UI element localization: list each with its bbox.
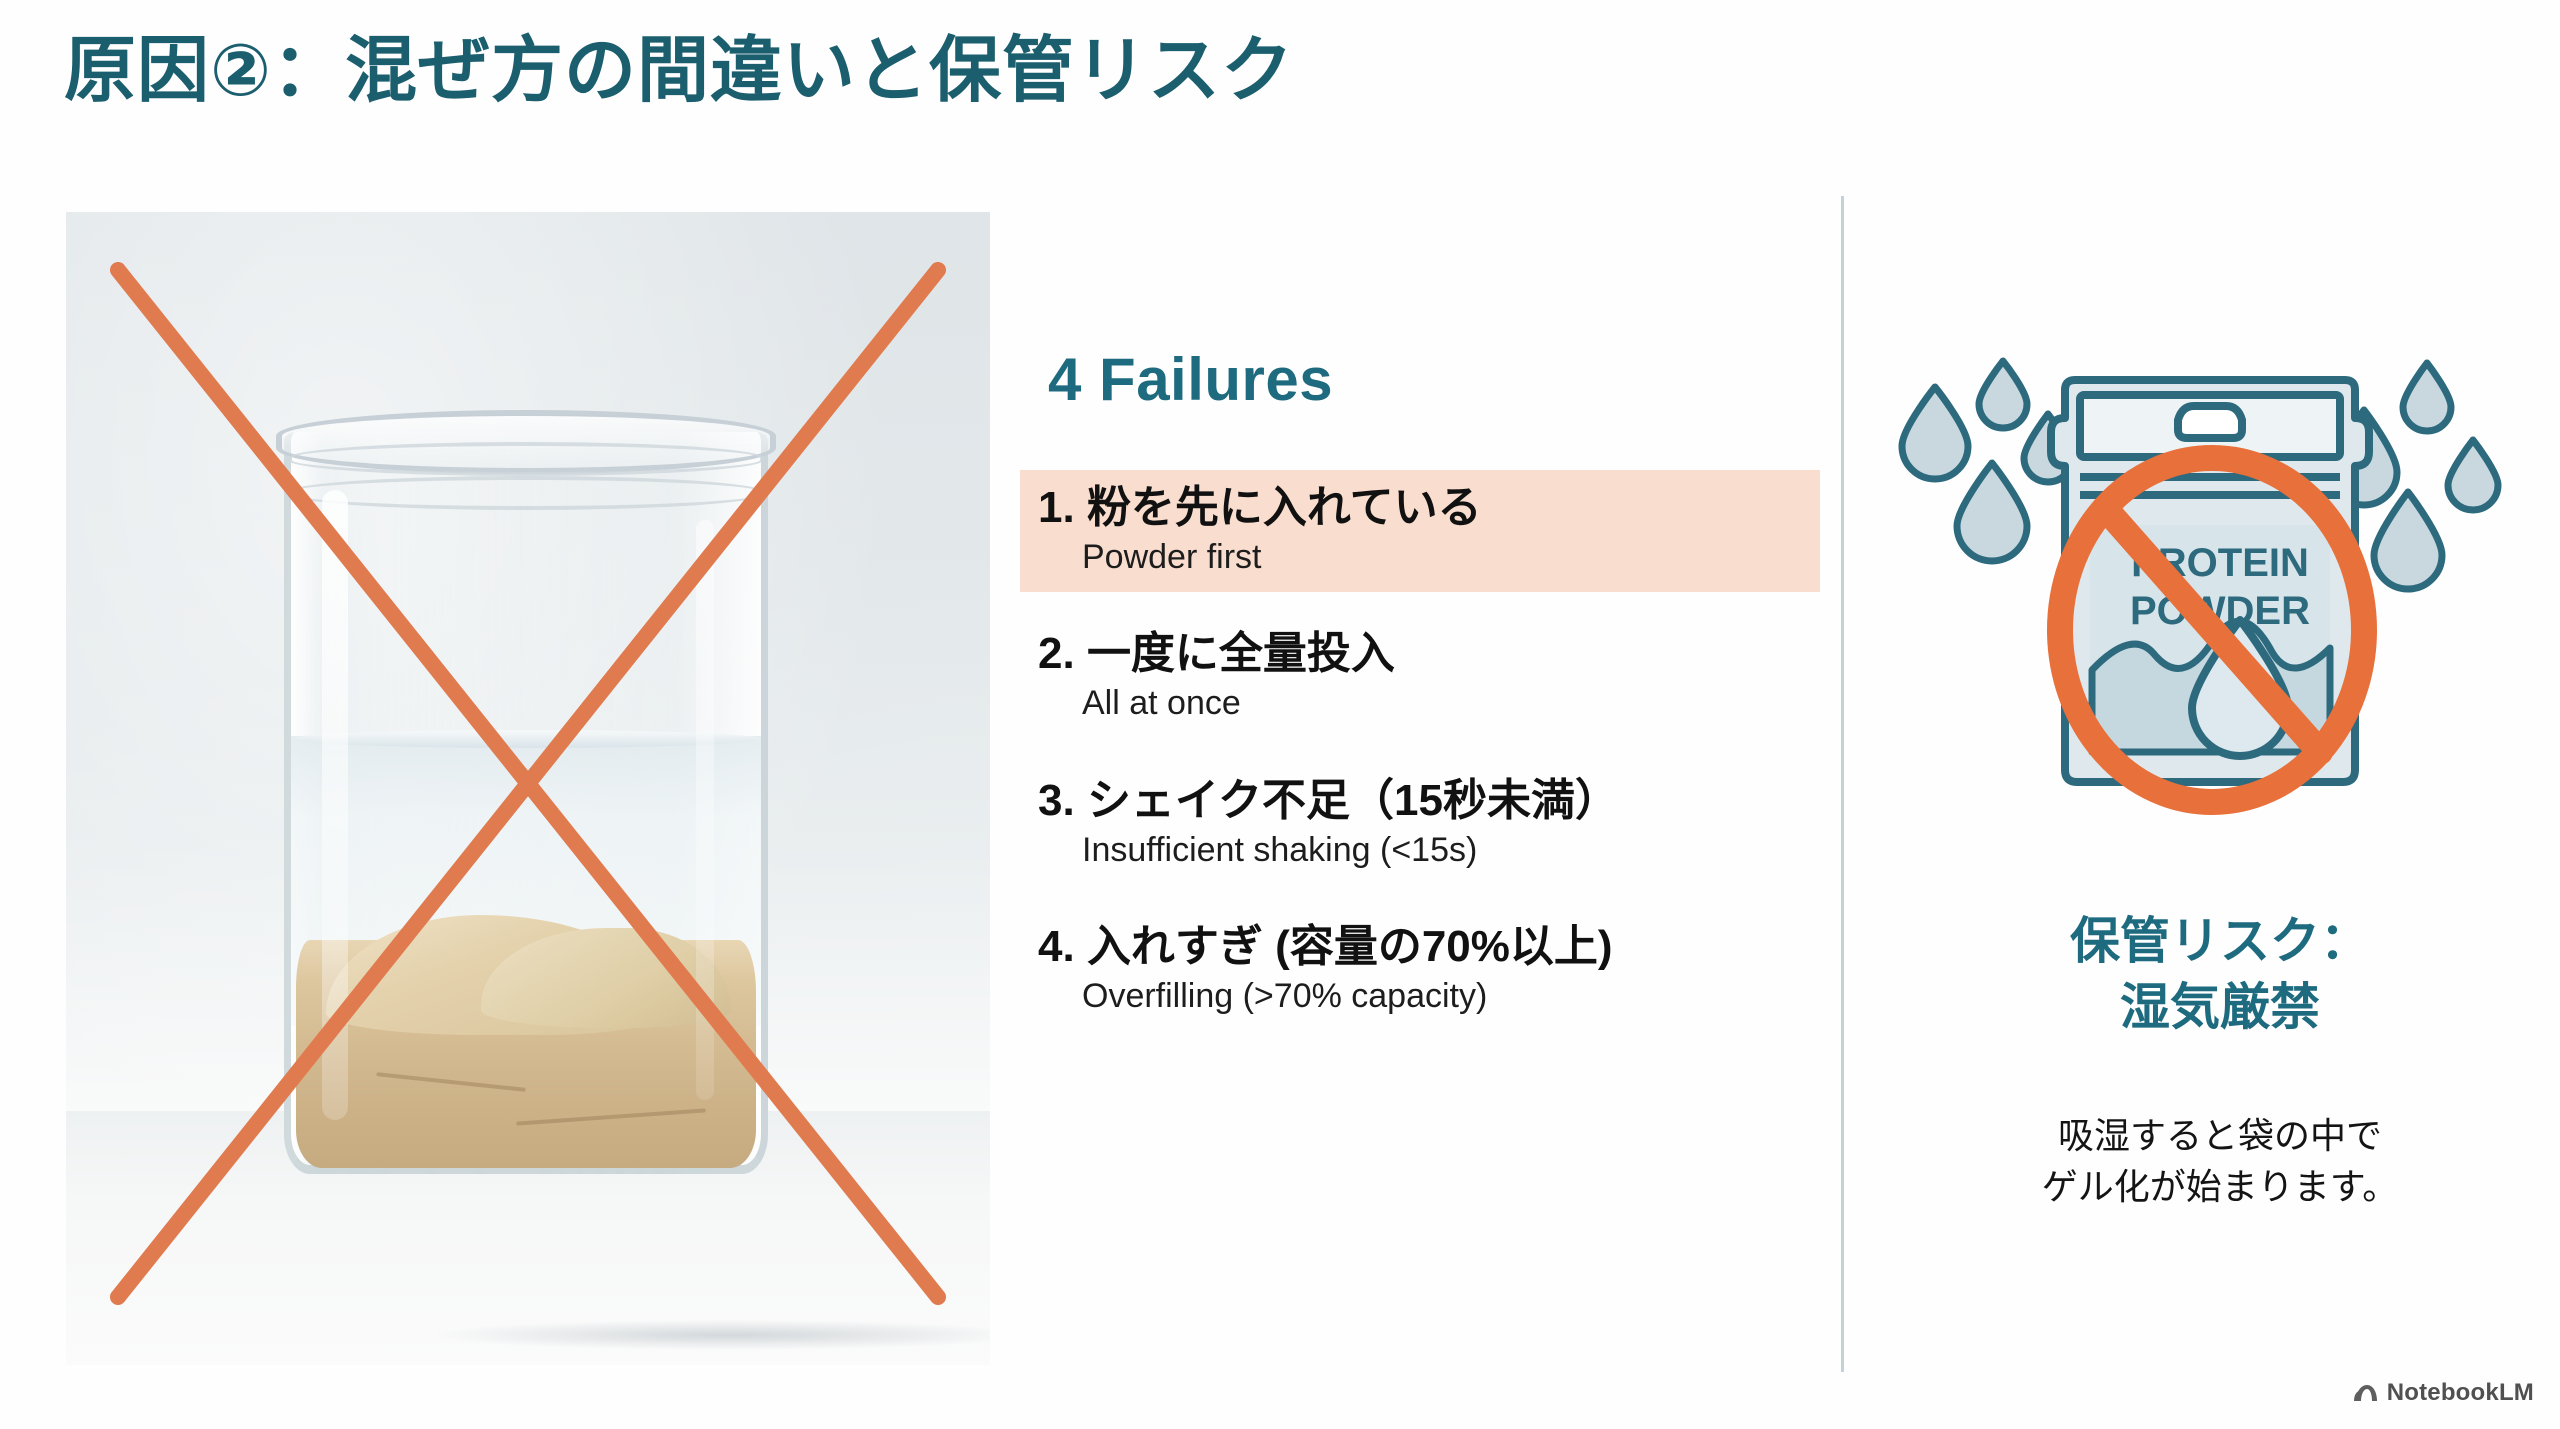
failure-item-4[interactable]: 4. 入れすぎ (容量の70%以上) Overfilling (>70% cap… (1020, 909, 1820, 1031)
column-divider (1841, 196, 1844, 1372)
protein-powder-pouch-no-moisture-icon: PROTEIN POWDER (1890, 340, 2550, 870)
failure-item-3-ja: シェイク不足（15秒未満） (1087, 776, 1619, 825)
failure-item-2-title: 2. 一度に全量投入 (1038, 628, 1804, 680)
failures-list: 1. 粉を先に入れている Powder first 2. 一度に全量投入 All… (1020, 470, 1820, 1056)
notebooklm-watermark: NotebookLM (2353, 1379, 2534, 1407)
failure-item-2[interactable]: 2. 一度に全量投入 All at once (1020, 616, 1820, 738)
cross-out-x-icon (66, 212, 990, 1365)
storage-risk-body-line2: ゲル化が始まります。 (1890, 1161, 2550, 1212)
failure-item-2-ja: 一度に全量投入 (1087, 629, 1395, 678)
failure-item-1-ja: 粉を先に入れている (1087, 483, 1482, 532)
storage-risk-body: 吸湿すると袋の中で ゲル化が始まります。 (1890, 1110, 2550, 1212)
failure-item-2-number: 2. (1038, 629, 1075, 678)
storage-risk-heading-line1: 保管リスク： (1890, 908, 2550, 974)
failure-item-1-number: 1. (1038, 483, 1075, 532)
failure-item-4-ja: 入れすぎ (容量の70%以上) (1087, 922, 1613, 971)
failures-heading: 4 Failures (1048, 345, 1333, 414)
page-title: 原因②：混ぜ方の間違いと保管リスク (64, 30, 1294, 113)
failure-item-3-number: 3. (1038, 776, 1075, 825)
failure-item-1[interactable]: 1. 粉を先に入れている Powder first (1020, 470, 1820, 592)
failure-item-3-title: 3. シェイク不足（15秒未満） (1038, 775, 1804, 827)
storage-risk-heading: 保管リスク： 湿気厳禁 (1890, 908, 2550, 1040)
shaker-cup-photo (66, 212, 990, 1365)
failure-item-4-en: Overfilling (>70% capacity) (1082, 975, 1804, 1018)
storage-risk-body-line1: 吸湿すると袋の中で (1890, 1110, 2550, 1161)
failure-item-2-en: All at once (1082, 682, 1804, 725)
failure-item-3[interactable]: 3. シェイク不足（15秒未満） Insufficient shaking (<… (1020, 763, 1820, 885)
storage-risk-heading-line2: 湿気厳禁 (1890, 974, 2550, 1040)
failure-item-1-title: 1. 粉を先に入れている (1038, 482, 1804, 534)
failure-item-1-en: Powder first (1082, 536, 1804, 579)
slide-canvas: 原因②：混ぜ方の間違いと保管リスク 4 Failures (0, 0, 2560, 1429)
notebooklm-logo-icon (2353, 1382, 2379, 1404)
failure-item-3-en: Insufficient shaking (<15s) (1082, 829, 1804, 872)
failure-item-4-title: 4. 入れすぎ (容量の70%以上) (1038, 921, 1804, 973)
notebooklm-watermark-text: NotebookLM (2387, 1379, 2534, 1407)
failure-item-4-number: 4. (1038, 922, 1075, 971)
water-droplet-icon (1902, 361, 2072, 561)
